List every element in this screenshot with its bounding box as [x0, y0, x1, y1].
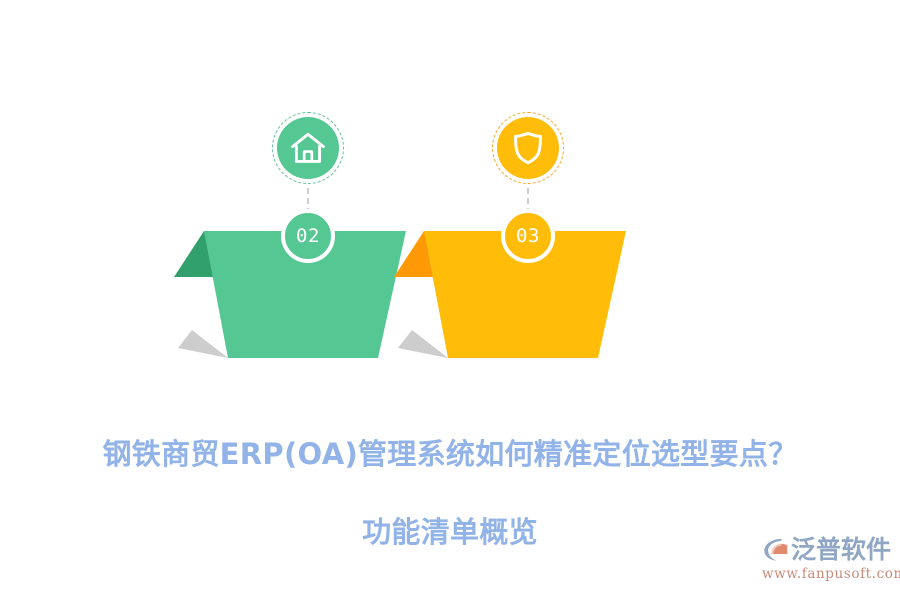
- brand-name: 泛普软件: [791, 536, 891, 563]
- poster-canvas: 02: [0, 0, 900, 600]
- home-icon: [291, 132, 325, 164]
- step-card-03[interactable]: 03: [400, 0, 660, 390]
- step-icon-badge-02[interactable]: [272, 112, 348, 188]
- card-shadow-green: [178, 330, 228, 358]
- step-number-badge-03[interactable]: 03: [501, 209, 555, 263]
- step-number-badge-02[interactable]: 02: [281, 209, 335, 263]
- icon-disc-orange: [497, 117, 559, 179]
- shield-icon: [512, 131, 544, 165]
- brand-url: www.fanpusoft.com: [762, 566, 892, 582]
- step-icon-badge-03[interactable]: [492, 112, 568, 188]
- brand-logo-row: 泛普软件: [762, 533, 892, 565]
- step-number-label: 02: [296, 227, 320, 246]
- step-number-label: 03: [516, 227, 540, 246]
- icon-disc-green: [277, 117, 339, 179]
- infographic: 02: [0, 0, 900, 390]
- fanpu-logo-icon: [762, 536, 789, 563]
- brand-watermark: 泛普软件 www.fanpusoft.com: [762, 533, 892, 585]
- card-shadow-orange: [398, 330, 448, 358]
- page-title-line-1: 钢铁商贸ERP(OA)管理系统如何精准定位选型要点？: [0, 435, 900, 474]
